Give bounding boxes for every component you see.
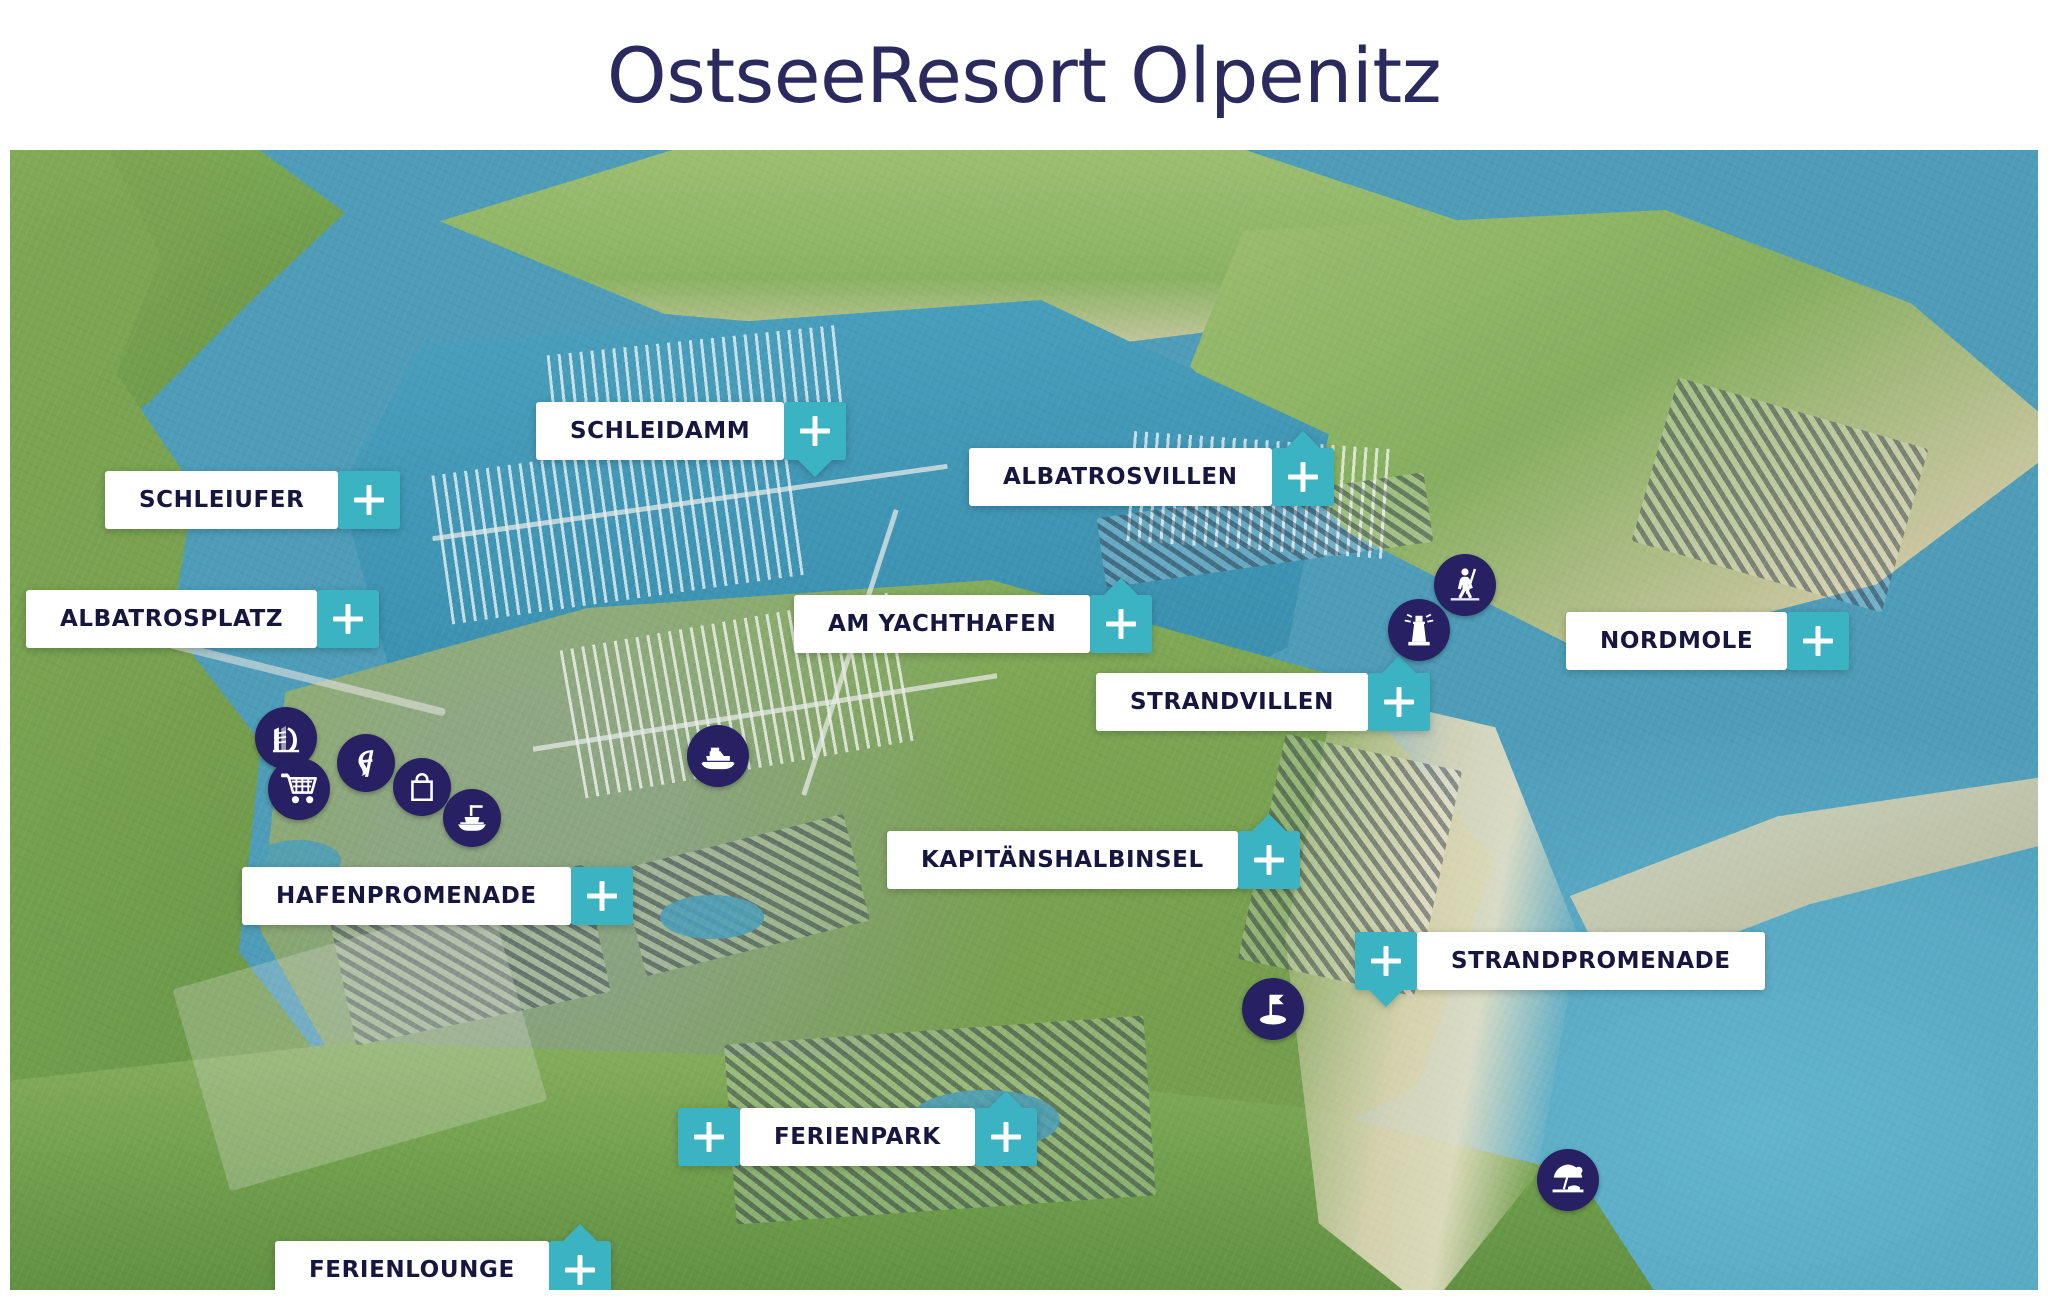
hotspot-label-ferienlounge: FERIENLOUNGE — [275, 1241, 549, 1290]
hotspot-plus-button-albatrosplatz[interactable] — [317, 590, 379, 648]
plus-icon — [800, 416, 830, 446]
hotspot-label-am-yachthafen: AM YACHTHAFEN — [794, 595, 1090, 653]
plus-icon — [1371, 946, 1401, 976]
map-hotspot-albatrosplatz[interactable]: ALBATROSPLATZ — [26, 590, 379, 648]
plus-icon — [1384, 687, 1414, 717]
hotspot-plus-button-ferienlounge[interactable] — [549, 1241, 611, 1290]
resort-map-page: OstseeResort Olpenitz — [0, 0, 2048, 1303]
map-hotspot-hafenpromenade[interactable]: HAFENPROMENADE — [242, 867, 633, 925]
map-poi-motorboat-icon[interactable] — [687, 725, 749, 787]
interactive-resort-map[interactable]: SCHLEIDAMMSCHLEIUFERALBATROSVILLENALBATR… — [10, 150, 2038, 1290]
plus-icon — [333, 604, 363, 634]
hotspot-label-albatrosvillen: ALBATROSVILLEN — [969, 448, 1272, 506]
map-poi-ferry-boat-icon[interactable] — [443, 789, 501, 847]
map-hotspot-ferienpark[interactable]: FERIENPARK — [678, 1108, 1037, 1166]
map-hotspot-schleiufer[interactable]: SCHLEIUFER — [105, 471, 400, 529]
hotspot-label-ferienpark: FERIENPARK — [740, 1108, 975, 1166]
plus-icon — [1288, 462, 1318, 492]
map-hotspot-kapitaenshalbinsel[interactable]: KAPITÄNSHALBINSEL — [887, 831, 1300, 889]
plus-icon — [1106, 609, 1136, 639]
plus-icon — [991, 1122, 1021, 1152]
hotspot-label-hafenpromenade: HAFENPROMENADE — [242, 867, 571, 925]
map-poi-shopping-cart-icon[interactable] — [268, 758, 330, 820]
hotspot-label-strandvillen: STRANDVILLEN — [1096, 673, 1368, 731]
hotspot-plus-button-kapitaenshalbinsel[interactable] — [1238, 831, 1300, 889]
hotspot-plus-button-albatrosvillen[interactable] — [1272, 448, 1334, 506]
hotspot-plus-button-hafenpromenade[interactable] — [571, 867, 633, 925]
hotspot-label-kapitaenshalbinsel: KAPITÄNSHALBINSEL — [887, 831, 1238, 889]
map-poi-lighthouse-icon[interactable] — [1388, 599, 1450, 661]
map-hotspot-am-yachthafen[interactable]: AM YACHTHAFEN — [794, 595, 1152, 653]
plus-icon — [565, 1255, 595, 1285]
plus-icon — [587, 881, 617, 911]
map-hotspot-nordmole[interactable]: NORDMOLE — [1566, 612, 1849, 670]
map-poi-beach-umbrella-icon[interactable] — [1537, 1149, 1599, 1211]
map-poi-paddleboard-icon[interactable] — [1434, 554, 1496, 616]
map-poi-golf-flag-icon[interactable] — [1242, 978, 1304, 1040]
hotspot-plus-button-strandpromenade[interactable] — [1355, 932, 1417, 990]
hotspot-label-albatrosplatz: ALBATROSPLATZ — [26, 590, 317, 648]
map-hotspot-strandpromenade[interactable]: STRANDPROMENADE — [1355, 932, 1765, 990]
map-hotspot-schleidamm[interactable]: SCHLEIDAMM — [536, 402, 846, 460]
hotspot-label-schleidamm: SCHLEIDAMM — [536, 402, 784, 460]
hotspot-plus-button-ferienpark[interactable] — [975, 1108, 1037, 1166]
hotspot-label-nordmole: NORDMOLE — [1566, 612, 1787, 670]
hotspot-plus-button-schleiufer[interactable] — [338, 471, 400, 529]
hotspot-plus-button-nordmole[interactable] — [1787, 612, 1849, 670]
plus-icon — [1254, 845, 1284, 875]
map-hotspot-albatrosvillen[interactable]: ALBATROSVILLEN — [969, 448, 1334, 506]
page-title: OstseeResort Olpenitz — [607, 31, 1441, 120]
plus-icon — [354, 485, 384, 515]
map-hotspot-strandvillen[interactable]: STRANDVILLEN — [1096, 673, 1430, 731]
hotspot-plus-button-am-yachthafen[interactable] — [1090, 595, 1152, 653]
map-hotspot-ferienlounge[interactable]: FERIENLOUNGE — [275, 1241, 611, 1290]
hotspot-plus-button-schleidamm[interactable] — [784, 402, 846, 460]
hotspot-label-schleiufer: SCHLEIUFER — [105, 471, 338, 529]
hotspot-plus-button-ferienpark[interactable] — [678, 1108, 740, 1166]
hotspot-plus-button-strandvillen[interactable] — [1368, 673, 1430, 731]
map-poi-letter-f-logo-icon[interactable] — [337, 734, 395, 792]
plus-icon — [1803, 626, 1833, 656]
map-poi-shopping-bag-icon[interactable] — [393, 758, 451, 816]
plus-icon — [694, 1122, 724, 1152]
title-bar: OstseeResort Olpenitz — [0, 0, 2048, 150]
hotspot-label-strandpromenade: STRANDPROMENADE — [1417, 932, 1765, 990]
